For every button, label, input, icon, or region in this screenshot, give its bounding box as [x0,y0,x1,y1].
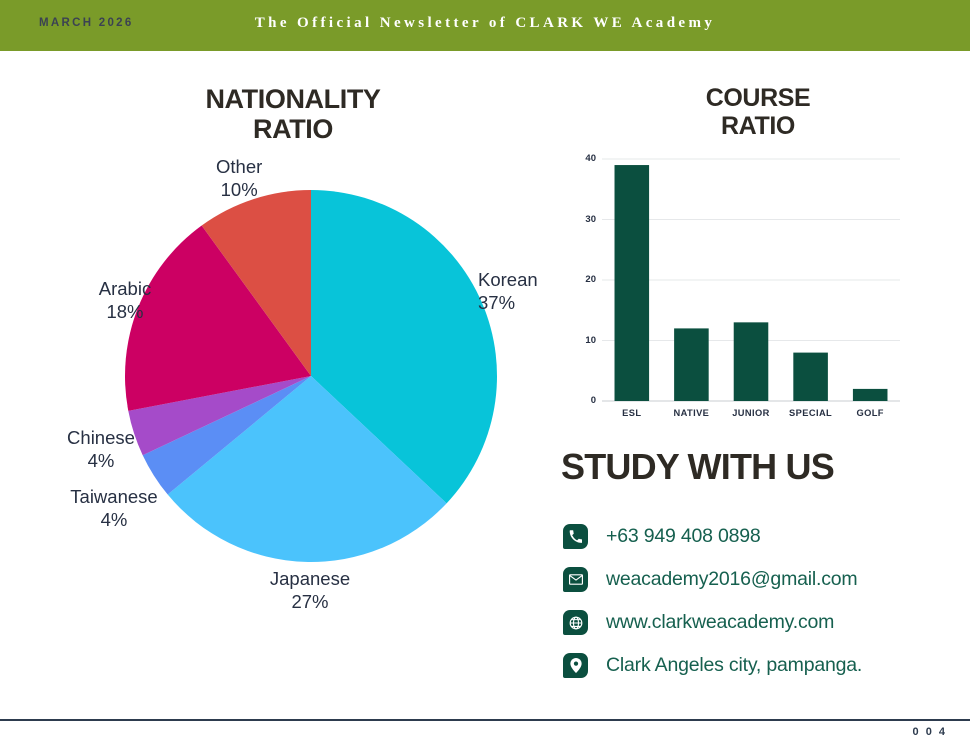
pie-label-arabic-value: 18% [86,301,164,324]
x-tick-junior: JUNIOR [721,408,781,418]
pie-label-arabic: Arabic 18% [86,278,164,323]
x-tick-native: NATIVE [662,408,722,418]
study-with-us-heading: STUDY WITH US [561,446,834,488]
nationality-title-line1: NATIONALITY [108,84,478,114]
y-tick-30: 30 [570,214,596,225]
y-tick-20: 20 [570,274,596,285]
bar-golf [853,389,888,401]
page-header: MARCH 2026 The Official Newsletter of CL… [0,0,970,51]
pie-label-chinese-name: Chinese [67,427,135,448]
course-ratio-title: COURSE RATIO [608,84,908,140]
nationality-ratio-title: NATIONALITY RATIO [108,84,478,144]
pie-label-japanese-value: 27% [249,591,371,614]
bar-chart-svg [570,145,910,420]
envelope-icon [563,567,588,592]
location-pin-icon [563,653,588,678]
course-bar-chart: 010203040 ESLNATIVEJUNIORSPECIALGOLF [570,145,910,420]
pie-label-other-value: 10% [216,179,262,202]
x-tick-special: SPECIAL [781,408,841,418]
pie-label-korean: Korean 37% [478,269,538,314]
y-tick-40: 40 [570,153,596,164]
pie-label-other-name: Other [216,156,262,177]
pie-slice-group [125,190,497,562]
newsletter-page: MARCH 2026 The Official Newsletter of CL… [0,0,970,749]
bar-rect-group [615,165,888,401]
globe-icon [563,610,588,635]
contact-item-website[interactable]: www.clarkweacademy.com [563,601,963,644]
pie-svg [0,150,560,620]
y-tick-0: 0 [570,395,596,406]
header-title: The Official Newsletter of CLARK WE Acad… [0,15,970,32]
contact-item-email[interactable]: weacademy2016@gmail.com [563,558,963,601]
x-tick-golf: GOLF [840,408,900,418]
x-tick-esl: ESL [602,408,662,418]
nationality-title-line2: RATIO [108,114,478,144]
pie-label-korean-value: 37% [478,292,538,315]
footer-divider [0,719,970,721]
phone-icon [563,524,588,549]
pie-label-japanese-name: Japanese [270,568,350,589]
contact-address-text: Clark Angeles city, pampanga. [606,654,862,677]
bar-native [674,328,709,401]
pie-label-chinese-value: 4% [61,450,141,473]
contact-email-text: weacademy2016@gmail.com [606,568,857,591]
nationality-pie-chart: Other 10% Korean 37% Arabic 18% Chinese … [0,150,560,620]
pie-label-taiwanese-name: Taiwanese [70,486,157,507]
contact-list: +63 949 408 0898 weacademy2016@gmail.com… [563,515,963,687]
contact-item-phone[interactable]: +63 949 408 0898 [563,515,963,558]
bar-esl [615,165,650,401]
course-title-line2: RATIO [608,112,908,140]
contact-item-address[interactable]: Clark Angeles city, pampanga. [563,644,963,687]
pie-label-arabic-name: Arabic [99,278,151,299]
pie-label-taiwanese: Taiwanese 4% [64,486,164,531]
contact-website-text: www.clarkweacademy.com [606,611,834,634]
course-title-line1: COURSE [608,84,908,112]
pie-label-japanese: Japanese 27% [249,568,371,613]
contact-phone-text: +63 949 408 0898 [606,525,761,548]
pie-label-taiwanese-value: 4% [64,509,164,532]
pie-label-korean-name: Korean [478,269,538,290]
footer-page-number: 0 0 4 [913,726,947,738]
bar-special [793,353,828,401]
pie-label-chinese: Chinese 4% [61,427,141,472]
pie-label-other: Other 10% [216,156,262,201]
bar-junior [734,322,769,401]
y-tick-10: 10 [570,335,596,346]
